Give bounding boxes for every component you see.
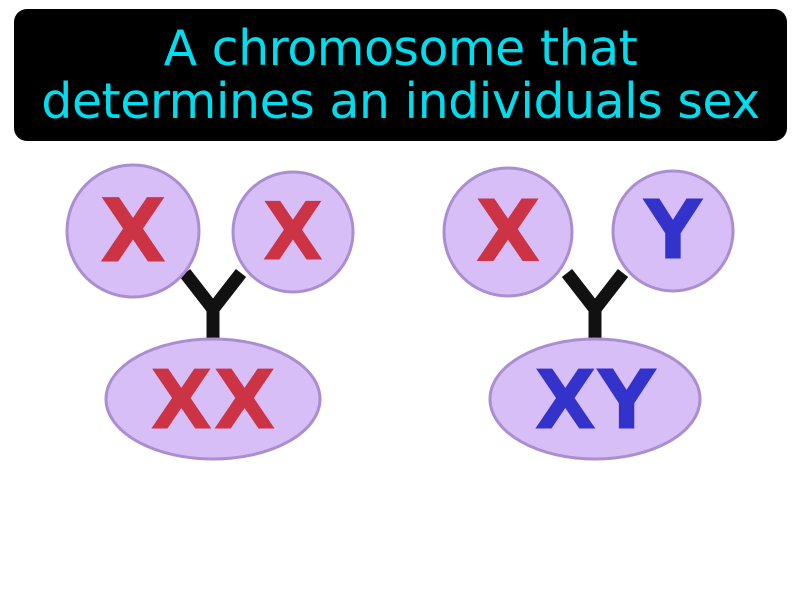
title-banner: A chromosome that determines an individu… [14, 9, 787, 141]
connector-male [567, 273, 623, 346]
page-title: A chromosome that determines an individu… [41, 22, 759, 129]
connector-female [185, 273, 241, 346]
chromosome-letter: Y [642, 184, 704, 279]
chromosome-pair-label: XY [534, 354, 658, 449]
chromosome-pair-label: XX [150, 354, 276, 449]
chromosome-letter: X [99, 180, 167, 283]
result-chromosome-pair-male[interactable]: XY [490, 339, 700, 459]
chromosome-letter: X [262, 186, 324, 279]
chromosome-letter: X [475, 182, 541, 282]
parent-chromosome-female-2[interactable]: X [233, 172, 353, 292]
definition-card: A chromosome that determines an individu… [0, 0, 800, 600]
diagram-svg: X X XX [0, 141, 800, 600]
sex-chromosome-diagram: X X XX [0, 141, 800, 600]
chromosome-group-female: X X XX [67, 165, 353, 459]
parent-chromosome-female-1[interactable]: X [67, 165, 199, 297]
result-chromosome-pair-female[interactable]: XX [106, 339, 320, 459]
chromosome-group-male: X Y XY [444, 168, 733, 459]
parent-chromosome-male-2[interactable]: Y [613, 171, 733, 291]
parent-chromosome-male-1[interactable]: X [444, 168, 572, 296]
